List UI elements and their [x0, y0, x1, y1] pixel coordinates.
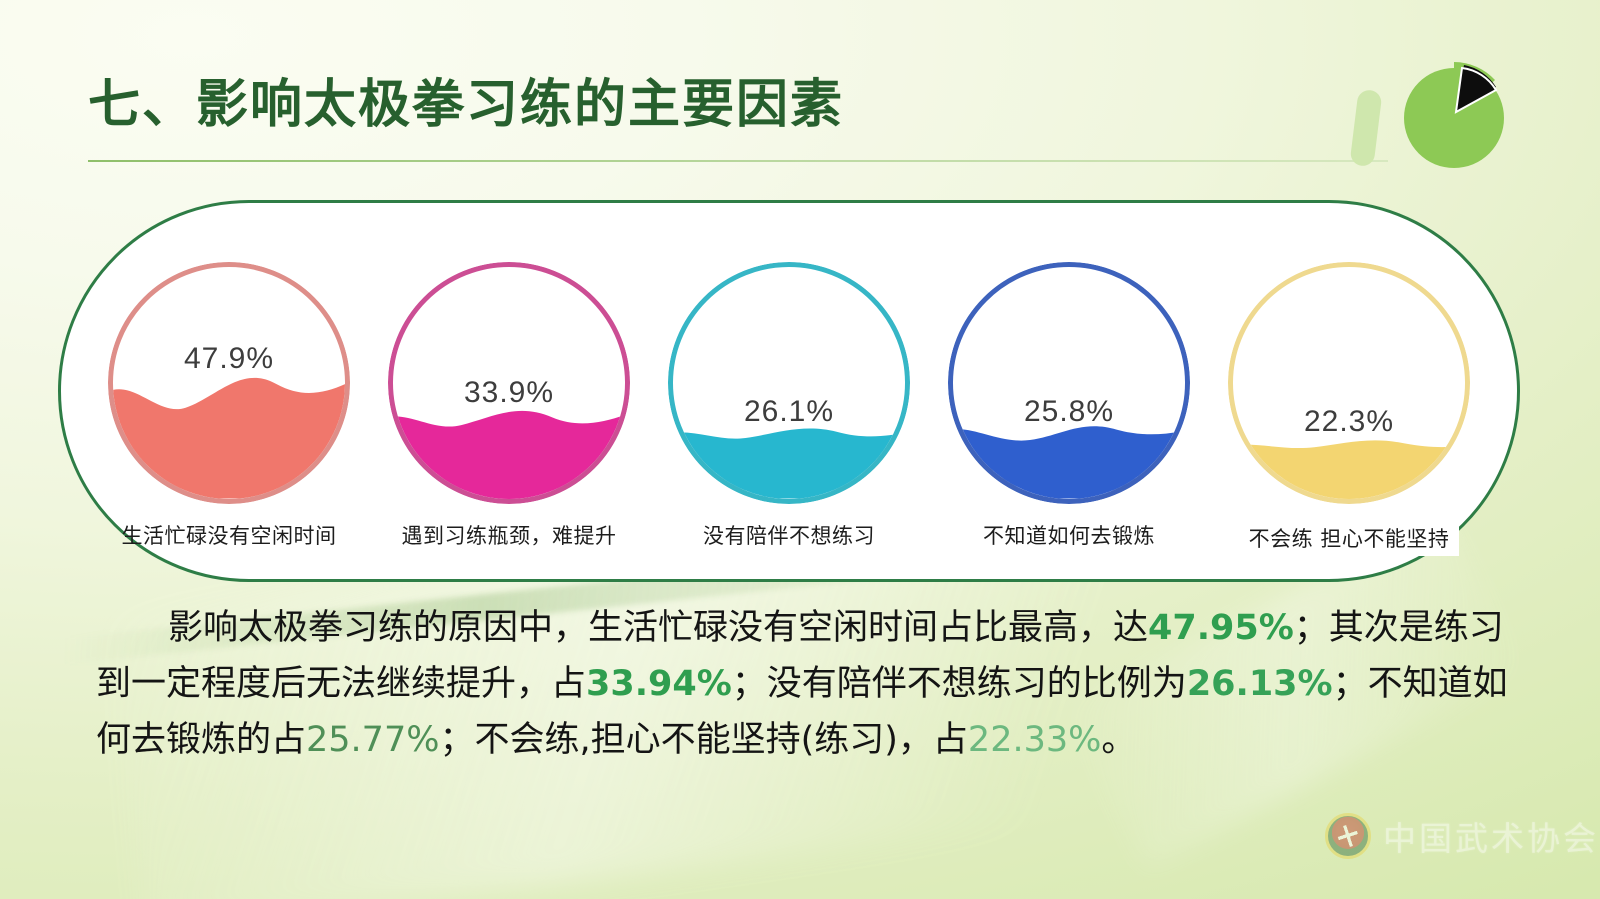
- gauge-percent-label: 22.3%: [1228, 405, 1470, 439]
- gauge-bowl: 22.3%: [1228, 262, 1470, 504]
- gauge-percent-label: 25.8%: [948, 395, 1190, 429]
- page-title: 七、影响太极拳习练的主要因素: [88, 62, 844, 137]
- watermark-text: 中国武术协会: [1383, 812, 1599, 860]
- gauge-water-fill: [113, 364, 345, 499]
- gauge-bowl: 26.1%: [668, 262, 910, 504]
- watermark: 中国武术协会: [1325, 812, 1599, 860]
- gauge-caption: 不会练 担心不能坚持: [1239, 520, 1460, 556]
- summary-paragraph: 影响太极拳习练的原因中，生活忙碌没有空闲时间占比最高，达47.95%；其次是练习…: [96, 600, 1516, 768]
- title-divider: [88, 160, 1388, 162]
- gauge-caption: 不知道如何去锻炼: [983, 520, 1155, 550]
- gauge-percent-label: 47.9%: [108, 342, 350, 376]
- paragraph-segment-6: 。: [1101, 720, 1136, 760]
- stat-value-3: 26.13%: [1187, 664, 1333, 704]
- gauge-caption: 遇到习练瓶颈，难提升: [402, 520, 617, 550]
- stat-value-2: 33.94%: [586, 664, 732, 704]
- gauge-bowl-inner: [673, 267, 905, 499]
- gauge-water-fill: [393, 397, 625, 499]
- gauge-caption: 生活忙碌没有空闲时间: [122, 520, 337, 550]
- gauge-bowl-inner: [1233, 267, 1465, 499]
- stat-value-4: 25.77%: [306, 720, 439, 760]
- gauge-bowl-inner: [113, 267, 345, 499]
- gauge-item[interactable]: 26.1% 没有陪伴不想练习: [655, 262, 923, 550]
- wushu-association-logo-icon: [1325, 813, 1371, 859]
- paragraph-segment-5: ；不会练,担心不能坚持(练习)，占: [439, 720, 967, 760]
- slide-canvas: 七、影响太极拳习练的主要因素: [0, 0, 1600, 899]
- gauge-item[interactable]: 25.8% 不知道如何去锻炼: [935, 262, 1203, 550]
- gauge-row: 47.9% 生活忙碌没有空闲时间 33.9% 遇到习练瓶颈，难提升: [58, 200, 1520, 582]
- pie-chart-icon: [1400, 60, 1508, 168]
- gauge-percent-label: 26.1%: [668, 395, 910, 429]
- stat-value-1: 47.95%: [1148, 608, 1294, 648]
- gauge-item[interactable]: 33.9% 遇到习练瓶颈，难提升: [375, 262, 643, 550]
- gauge-percent-label: 33.9%: [388, 376, 630, 410]
- gauge-bowl: 33.9%: [388, 262, 630, 504]
- paragraph-segment-1: 影响太极拳习练的原因中，生活忙碌没有空闲时间占比最高，达: [168, 608, 1148, 648]
- pie-chart-logo: [1340, 32, 1530, 172]
- gauge-bowl: 47.9%: [108, 262, 350, 504]
- gauge-bowl-inner: [953, 267, 1185, 499]
- stat-value-5: 22.33%: [968, 720, 1101, 760]
- gauge-item[interactable]: 22.3% 不会练 担心不能坚持: [1215, 262, 1483, 556]
- gauge-bowl: 25.8%: [948, 262, 1190, 504]
- gauge-item[interactable]: 47.9% 生活忙碌没有空闲时间: [95, 262, 363, 550]
- gauge-caption: 没有陪伴不想练习: [703, 520, 875, 550]
- logo-arc-decoration: [1349, 89, 1382, 167]
- paragraph-segment-3: ；没有陪伴不想练习的比例为: [732, 664, 1187, 704]
